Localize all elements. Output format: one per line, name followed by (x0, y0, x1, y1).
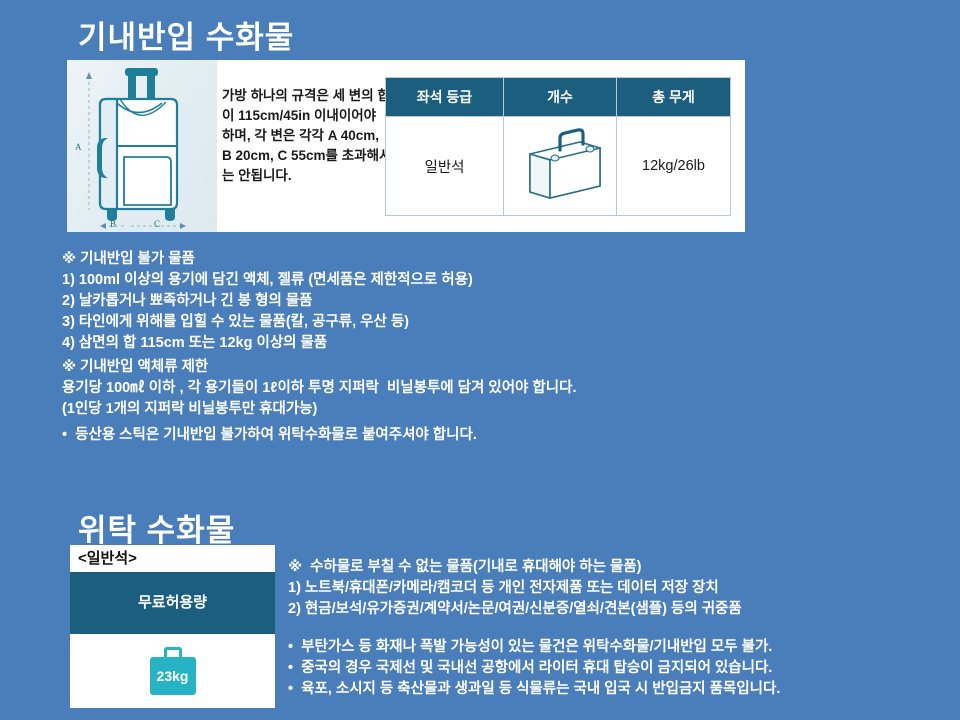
checked-panel-body: 23kg (70, 634, 275, 708)
table-header-row: 좌석 등급 개수 총 무게 (386, 78, 731, 117)
cell-total-weight: 12kg/26lb (617, 117, 731, 216)
carry-on-info-panel: A B C 가방 하나의 규격은 세 변의 합이 115cm/45in 이내이어… (67, 60, 745, 232)
column-header-count: 개수 (504, 78, 617, 117)
table-row: 일반석 (386, 117, 731, 216)
checked-baggage-section-title: 위탁 수화물 (78, 505, 235, 550)
cell-seat-class: 일반석 (386, 117, 504, 216)
checked-panel-subheader: 무료허용량 (70, 572, 275, 634)
checked-not-allowed-note: ※ 수하물로 부칠 수 없는 물품(기내로 휴대해야 하는 물품) 1) 노트북… (288, 557, 742, 620)
rolling-suitcase-illustration: A B C (67, 60, 217, 232)
dimension-label-c: C (154, 219, 160, 229)
suitcase-weight-icon: 23kg (146, 647, 200, 695)
carry-on-allowance-table: 좌석 등급 개수 총 무게 일반석 (385, 77, 731, 216)
checked-allowance-panel: <일반석> 무료허용량 23kg (70, 545, 275, 708)
checked-panel-header: <일반석> (70, 545, 275, 572)
dimension-label-a: A (75, 142, 82, 152)
carry-on-trekking-pole-note: • 등산용 스틱은 기내반입 불가하여 위탁수화물로 붙여주셔야 합니다. (62, 425, 477, 446)
briefcase-icon (512, 124, 608, 204)
rolling-suitcase-icon (67, 60, 217, 232)
suitcase-weight-label: 23kg (150, 657, 196, 695)
cell-count (504, 117, 617, 216)
dimension-label-b: B (110, 219, 116, 229)
column-header-weight: 총 무게 (617, 78, 731, 117)
carry-on-section-title: 기내반입 수화물 (78, 12, 294, 57)
carry-on-liquid-restriction-note: ※ 기내반입 액체류 제한 용기당 100㎖ 이하 , 각 용기들이 1ℓ이하 … (62, 357, 576, 420)
checked-general-bullets-note: • 부탄가스 등 화재나 폭발 가능성이 있는 물건은 위탁수화물/기내반입 모… (288, 637, 780, 700)
carry-on-prohibited-items-note: ※ 기내반입 불가 물품 1) 100ml 이상의 용기에 담긴 액체, 젤류 … (62, 249, 473, 354)
column-header-seat-class: 좌석 등급 (386, 78, 504, 117)
slide-root: 기내반입 수화물 (0, 0, 960, 720)
carry-on-size-description: 가방 하나의 규격은 세 변의 합이 115cm/45in 이내이어야 하며, … (222, 86, 392, 186)
